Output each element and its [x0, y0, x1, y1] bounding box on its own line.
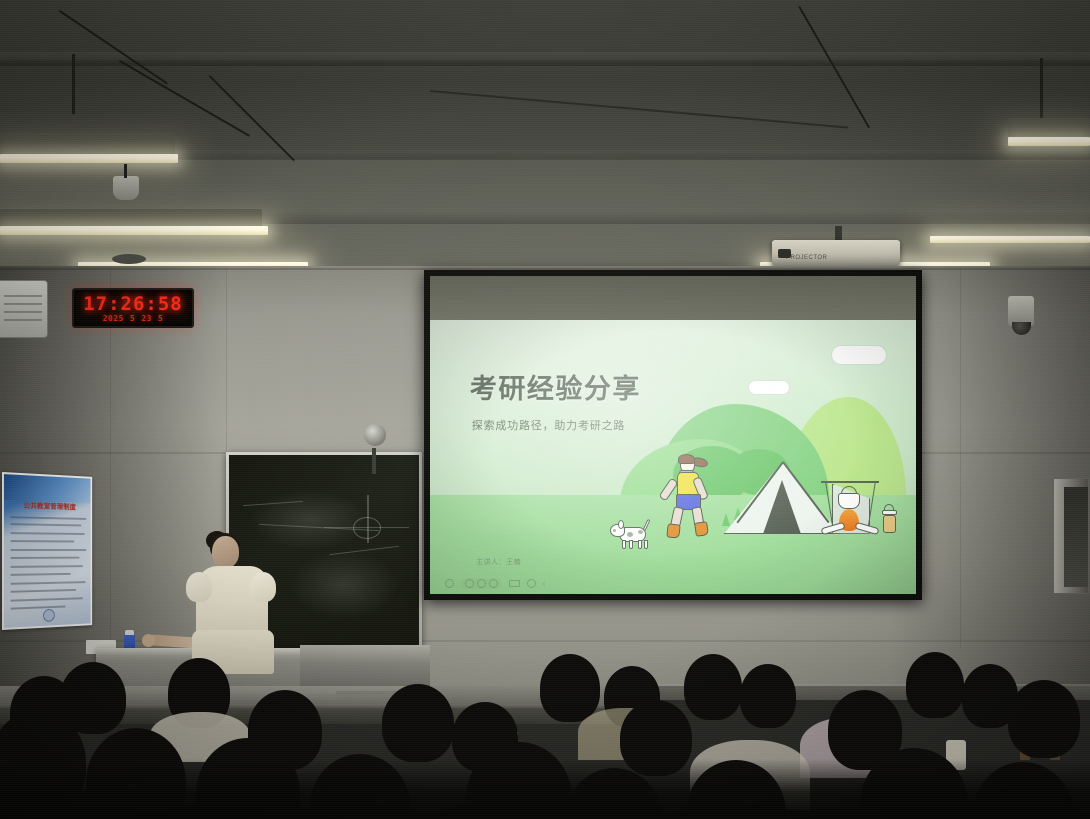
projector-label: PROJECTOR	[786, 255, 827, 261]
slide-walking-girl	[666, 456, 722, 550]
ceiling-fan-mount	[112, 254, 146, 264]
clock-time: 17:26:58	[83, 294, 183, 314]
audience-head-back-6	[906, 652, 964, 718]
presenter-sleeve-right	[250, 572, 276, 602]
audience	[0, 650, 1090, 819]
wall-equipment-box	[1053, 478, 1089, 594]
air-conditioner	[0, 280, 48, 338]
presenter-hand	[142, 634, 155, 647]
light-hanger-1	[72, 54, 75, 114]
ceiling	[0, 0, 1090, 272]
dog-leg-4	[644, 540, 648, 549]
annotation-tool-group[interactable]	[461, 578, 502, 589]
fan-bracket	[372, 448, 376, 474]
slide-cloud-1	[831, 345, 887, 365]
ceiling-duct	[0, 60, 1090, 66]
girl-hair	[678, 454, 695, 464]
girl-boot-front	[694, 521, 709, 537]
girl-boot-back	[666, 524, 680, 539]
clock-month: 5	[130, 314, 135, 324]
light-hanger-4	[1040, 58, 1043, 118]
presenter-head	[212, 536, 239, 568]
ceiling-light-2	[0, 226, 268, 235]
presentation-slide[interactable]: 考研经验分享 探索成功路径，助力考研之路 主讲人：王楠 ‹	[430, 320, 916, 594]
light-housing-1	[0, 133, 175, 155]
slide-log-2	[854, 522, 879, 535]
pen-icon[interactable]	[465, 579, 474, 588]
presentation-toolbar[interactable]: ‹	[445, 578, 550, 589]
dog-leg-3	[638, 540, 642, 549]
poster-title: 公共教室管理制度	[12, 500, 88, 512]
clock-day: 23	[141, 314, 152, 324]
slide-log-1	[820, 522, 845, 535]
audience-head-back-5	[740, 664, 796, 728]
ceiling-light-4	[1008, 137, 1090, 146]
light-housing-2	[0, 209, 262, 227]
poster-seal-icon	[43, 609, 55, 622]
highlighter-icon[interactable]	[489, 579, 498, 588]
slide-title: 考研经验分享	[470, 367, 641, 406]
light-housing-4	[1008, 118, 1090, 138]
slide-subtitle: 探索成功路径，助力考研之路	[472, 417, 625, 433]
more-options-icon[interactable]	[527, 579, 536, 588]
laser-pointer-icon[interactable]	[477, 579, 486, 588]
poster-header	[4, 474, 91, 503]
slide-cloud-2	[748, 380, 790, 395]
bottle-cap	[125, 630, 134, 635]
clock-date: 2025 5 23 5	[103, 314, 164, 324]
clock-weekday: 5	[158, 314, 163, 324]
projector-lens-icon	[778, 249, 791, 258]
slide-cooking-pot	[838, 493, 860, 509]
settings-icon[interactable]	[445, 579, 454, 588]
projection-screen: 考研经验分享 探索成功路径，助力考研之路 主讲人：王楠 ‹	[424, 270, 922, 600]
led-wall-clock: 17:26:58 2025 5 23 5	[72, 288, 194, 328]
slide-campfire-group	[819, 477, 889, 539]
classroom-photo-scene: PROJECTOR 17:26:58 2025 5 23 5 公共教室管理制度	[0, 0, 1090, 819]
slide-presenter-line: 主讲人：王楠	[476, 557, 521, 567]
ceiling-wire-1	[59, 10, 168, 84]
clock-year: 2025	[103, 314, 124, 324]
dog-leg-1	[622, 540, 626, 549]
ceiling-wire-4	[798, 6, 870, 128]
wall-box-inner	[1064, 487, 1088, 587]
ceiling-speaker	[113, 176, 139, 200]
audience-head-mid-6	[620, 700, 692, 776]
slide-grid-icon[interactable]	[509, 580, 520, 587]
audience-head-back-2	[540, 654, 600, 722]
dog-ear	[618, 520, 624, 529]
wall-notice-poster: 公共教室管理制度	[2, 472, 92, 630]
ceiling-light-5	[930, 236, 1090, 243]
wall-fan-icon	[364, 424, 386, 446]
presenter-sleeve-left	[186, 572, 212, 602]
audience-head-front-4	[310, 754, 410, 819]
prev-slide-icon[interactable]: ‹	[543, 579, 550, 588]
audience-head-mid-8	[1008, 680, 1080, 758]
audience-head-back-4	[684, 654, 742, 720]
slide-dog	[610, 519, 662, 553]
slide-lantern	[882, 504, 902, 536]
ceiling-wire-5	[430, 90, 849, 129]
ceiling-light-1	[0, 154, 178, 163]
screen-top-band	[430, 276, 916, 320]
dog-leg-2	[629, 540, 633, 549]
speaker-hanger	[124, 164, 127, 178]
audience-head-mid-4	[382, 684, 454, 762]
projector: PROJECTOR	[772, 240, 900, 266]
